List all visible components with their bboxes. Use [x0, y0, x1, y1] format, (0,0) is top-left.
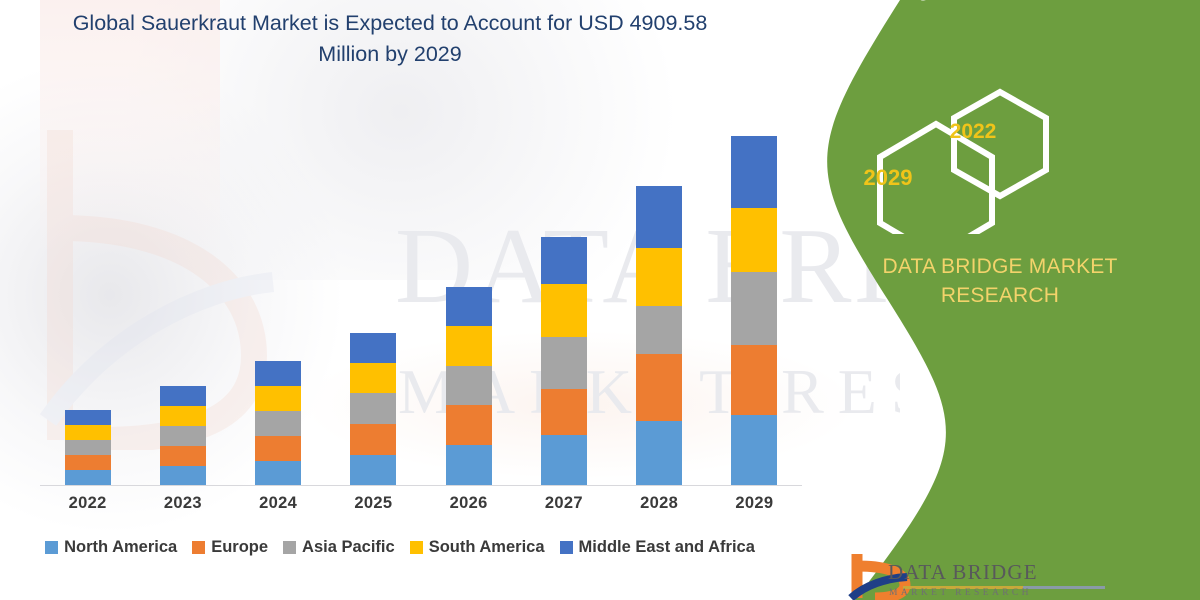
hexagon-badges: [800, 84, 1200, 234]
bar-segment[interactable]: [731, 136, 777, 208]
plot-area: [40, 100, 800, 485]
x-tick-label: 2026: [424, 494, 514, 513]
legend-item[interactable]: South America: [410, 538, 545, 557]
bar-segment[interactable]: [731, 415, 777, 485]
chart-title: Global Sauerkraut Market is Expected to …: [70, 8, 710, 69]
logo-tagline: MARKET RESEARCH: [889, 588, 1032, 598]
x-tick-label: 2027: [519, 494, 609, 513]
bar-segment[interactable]: [160, 386, 206, 406]
legend-label: Middle East and Africa: [579, 538, 755, 557]
bar-segment[interactable]: [636, 248, 682, 306]
legend-swatch-icon: [283, 541, 296, 554]
legend-item[interactable]: Asia Pacific: [283, 538, 395, 557]
x-tick-label: 2025: [328, 494, 418, 513]
x-axis-tick-labels: 20222023202420252026202720282029: [40, 494, 802, 524]
stacked-bar[interactable]: [541, 237, 587, 485]
bar-segment[interactable]: [446, 326, 492, 366]
bar-segment[interactable]: [541, 435, 587, 485]
chart-legend: North AmericaEuropeAsia PacificSouth Ame…: [0, 538, 800, 557]
hexagon-2029-label: 2029: [828, 165, 948, 191]
bar-segment[interactable]: [446, 445, 492, 485]
bar-segment[interactable]: [160, 446, 206, 466]
bar-segment[interactable]: [65, 470, 111, 485]
stacked-bar[interactable]: [65, 410, 111, 485]
x-axis-line: [40, 485, 802, 486]
bar-segment[interactable]: [255, 436, 301, 461]
bar-segment[interactable]: [255, 386, 301, 411]
bar-segment[interactable]: [446, 287, 492, 326]
bar-segment[interactable]: [446, 366, 492, 405]
logo-wordmark: DATA BRIDGE: [888, 560, 1038, 585]
bar-segment[interactable]: [255, 461, 301, 485]
legend-swatch-icon: [192, 541, 205, 554]
bar-segment[interactable]: [65, 440, 111, 455]
bar-segment[interactable]: [541, 284, 587, 337]
brand-name-text: DATA BRIDGE MARKET RESEARCH: [810, 252, 1190, 311]
legend-swatch-icon: [560, 541, 573, 554]
brand-line-1: DATA BRIDGE MARKET: [810, 252, 1190, 281]
bar-segment[interactable]: [255, 411, 301, 436]
legend-label: Asia Pacific: [302, 538, 395, 557]
green-side-panel: Regions, 2022 to 2029 2029 2022 DATA BRI…: [800, 0, 1200, 600]
bar-segment[interactable]: [350, 393, 396, 424]
chart-panel: DATA BRIDGE MARKET RESEARCH Global Sauer…: [0, 0, 900, 600]
bar-segment[interactable]: [731, 345, 777, 415]
bar-segment[interactable]: [255, 361, 301, 386]
bar-segment[interactable]: [731, 272, 777, 345]
legend-swatch-icon: [410, 541, 423, 554]
bar-segment[interactable]: [350, 333, 396, 363]
bar-segment[interactable]: [160, 406, 206, 426]
bar-segment[interactable]: [65, 425, 111, 440]
stacked-bar[interactable]: [350, 333, 396, 485]
brand-line-2: RESEARCH: [810, 281, 1190, 310]
bar-segment[interactable]: [65, 455, 111, 470]
bar-segment[interactable]: [446, 405, 492, 445]
bar-segment[interactable]: [350, 363, 396, 393]
legend-label: South America: [429, 538, 545, 557]
x-tick-label: 2024: [233, 494, 323, 513]
stacked-bar[interactable]: [731, 136, 777, 485]
bar-segment[interactable]: [731, 208, 777, 272]
bar-segment[interactable]: [65, 410, 111, 425]
bar-segment[interactable]: [160, 426, 206, 446]
bar-segment[interactable]: [541, 337, 587, 389]
bar-segment[interactable]: [636, 354, 682, 421]
bar-segment[interactable]: [636, 186, 682, 248]
x-tick-label: 2029: [709, 494, 799, 513]
bar-segment[interactable]: [541, 389, 587, 435]
stacked-bar[interactable]: [255, 361, 301, 485]
legend-item[interactable]: Europe: [192, 538, 268, 557]
stacked-bar[interactable]: [636, 186, 682, 485]
x-tick-label: 2023: [138, 494, 228, 513]
legend-item[interactable]: Middle East and Africa: [560, 538, 755, 557]
green-panel-heading: Regions, 2022 to 2029: [820, 0, 1180, 4]
hexagon-2022-label: 2022: [918, 120, 1028, 144]
bar-segment[interactable]: [541, 237, 587, 284]
legend-item[interactable]: North America: [45, 538, 177, 557]
x-tick-label: 2028: [614, 494, 704, 513]
x-tick-label: 2022: [43, 494, 133, 513]
legend-label: Europe: [211, 538, 268, 557]
legend-label: North America: [64, 538, 177, 557]
bar-segment[interactable]: [636, 306, 682, 354]
legend-swatch-icon: [45, 541, 58, 554]
bar-segment[interactable]: [350, 424, 396, 455]
stacked-bar[interactable]: [160, 386, 206, 485]
stacked-bar[interactable]: [446, 287, 492, 485]
bar-segment[interactable]: [160, 466, 206, 485]
bar-segment[interactable]: [350, 455, 396, 485]
bar-segment[interactable]: [636, 421, 682, 485]
